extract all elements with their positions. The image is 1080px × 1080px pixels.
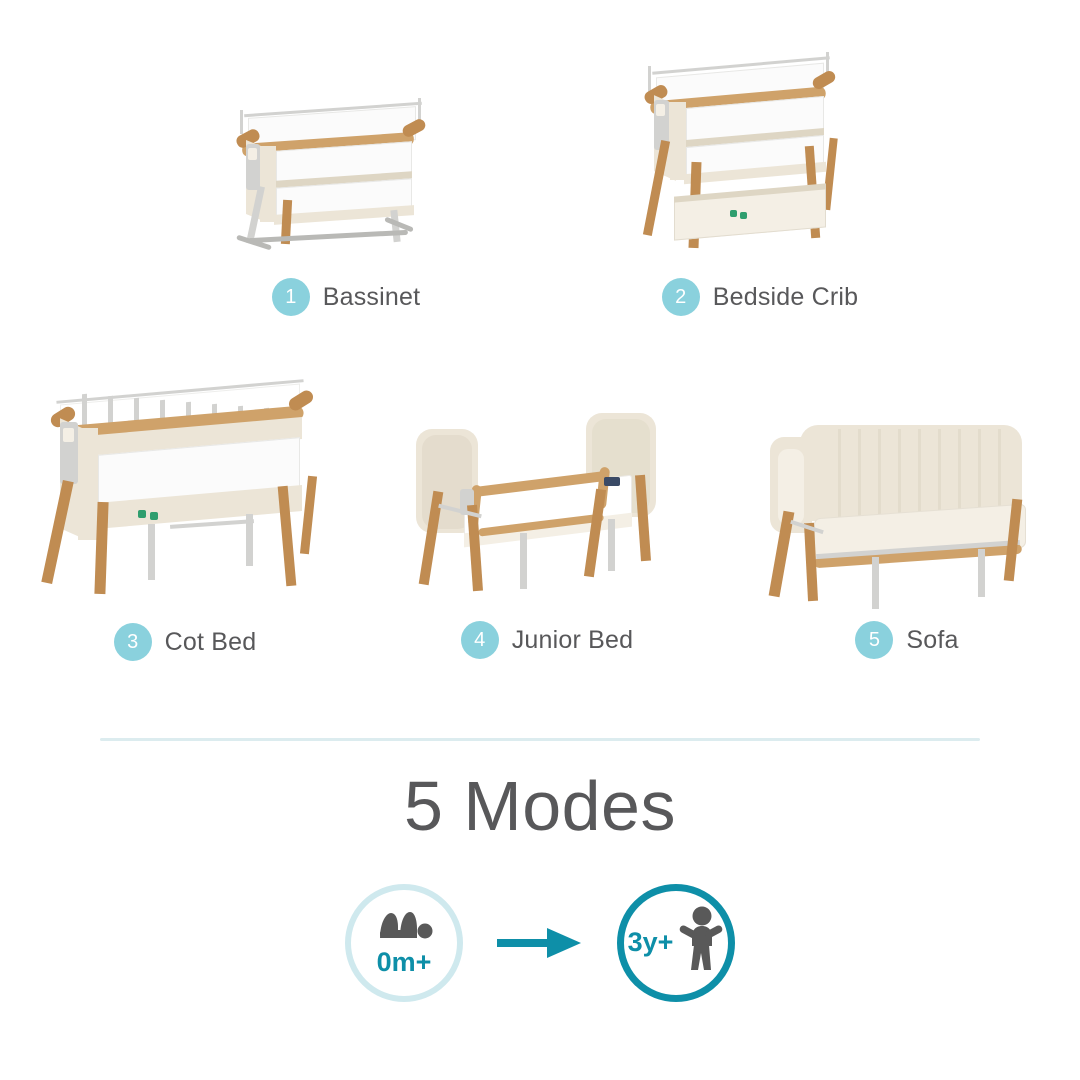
mode-label-4: Junior Bed: [512, 626, 634, 655]
mode-card-cot-bed: 3 Cot Bed: [20, 372, 350, 661]
mode-label-1: Bassinet: [323, 283, 421, 312]
mode-caption: 3 Cot Bed: [114, 623, 257, 661]
mode-caption: 4 Junior Bed: [461, 621, 634, 659]
arrow-right-icon: [497, 926, 583, 960]
bassinet-illustration: [196, 82, 496, 272]
mode-caption: 2 Bedside Crib: [662, 278, 859, 316]
sofa-illustration: [742, 415, 1072, 615]
crawling-baby-icon: [374, 909, 434, 944]
mode-badge-4: 4: [461, 621, 499, 659]
mode-card-bassinet: 1 Bassinet: [196, 82, 496, 316]
mode-card-bedside-crib: 2 Bedside Crib: [600, 42, 920, 316]
age-end-label: 3y+: [628, 929, 674, 956]
mode-badge-3: 3: [114, 623, 152, 661]
junior-bed-illustration: [382, 405, 712, 615]
mode-badge-1: 1: [272, 278, 310, 316]
mode-label-5: Sofa: [906, 626, 958, 655]
age-range-strip: 0m+ 3y+: [0, 880, 1080, 1005]
mode-card-sofa: 5 Sofa: [742, 415, 1072, 659]
age-badge-end: 3y+: [617, 884, 735, 1002]
age-badge-start: 0m+: [345, 884, 463, 1002]
mode-label-3: Cot Bed: [165, 628, 257, 657]
mode-card-junior-bed: 4 Junior Bed: [382, 405, 712, 659]
mode-caption: 5 Sofa: [855, 621, 958, 659]
mode-label-2: Bedside Crib: [713, 283, 859, 312]
page-title: 5 Modes: [0, 766, 1080, 846]
standing-child-icon: [676, 906, 724, 979]
bedside-crib-illustration: [600, 42, 920, 272]
infographic-page: 1 Bassinet: [0, 0, 1080, 1080]
mode-caption: 1 Bassinet: [272, 278, 421, 316]
cot-bed-illustration: [20, 372, 350, 617]
age-start-label: 0m+: [377, 949, 432, 976]
mode-badge-2: 2: [662, 278, 700, 316]
section-divider: [100, 738, 980, 741]
mode-badge-5: 5: [855, 621, 893, 659]
